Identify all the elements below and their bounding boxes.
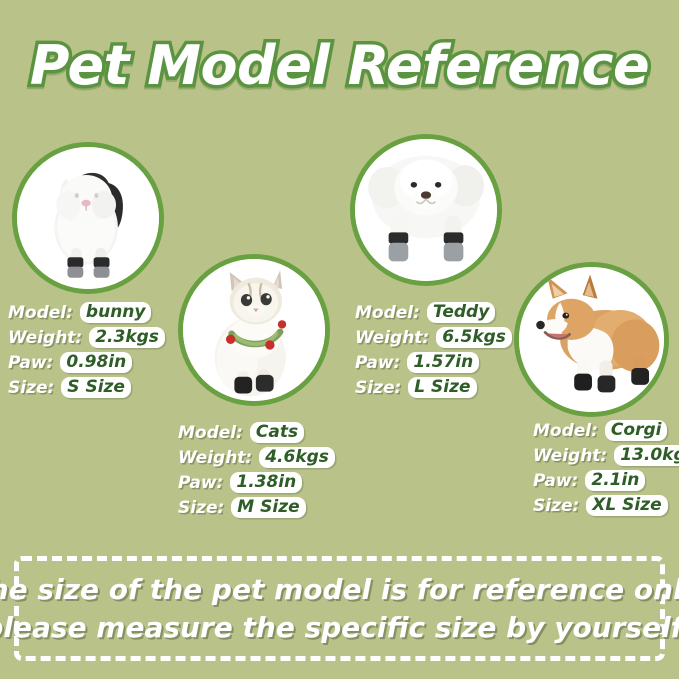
spec-value-weight: 4.6kgs [259, 447, 335, 468]
spec-label-model: Model: [8, 303, 73, 323]
spec-row: Model: bunny [8, 300, 165, 325]
page-title: Pet Model Reference [0, 34, 679, 97]
bootie [67, 257, 83, 278]
spec-row: Model: Corgi [533, 418, 679, 443]
spec-row: Size: M Size [178, 495, 335, 520]
corgi-photo [514, 262, 669, 417]
spec-label-model: Model: [178, 423, 243, 443]
spec-row: Paw: 1.57in [355, 350, 512, 375]
spec-value-size: XL Size [586, 495, 667, 516]
spec-label-size: Size: [178, 498, 224, 518]
spec-row: Paw: 0.98in [8, 350, 165, 375]
bootie [598, 376, 616, 393]
bootie [631, 368, 649, 385]
spec-row: Weight: 4.6kgs [178, 445, 335, 470]
bootie [256, 375, 274, 392]
spec-row: Size: L Size [355, 375, 512, 400]
spec-row: Weight: 13.0kgs [533, 443, 679, 468]
spec-label-size: Size: [355, 378, 401, 398]
spec-label-model: Model: [355, 303, 420, 323]
spec-row: Paw: 2.1in [533, 468, 679, 493]
spec-value-model: bunny [80, 302, 152, 323]
spec-block-bunny: Model: bunny Weight: 2.3kgs Paw: 0.98in … [8, 300, 165, 400]
spec-label-size: Size: [533, 496, 579, 516]
disclaimer-box: The size of the pet model is for referen… [14, 556, 665, 661]
spec-value-weight: 2.3kgs [89, 327, 165, 348]
spec-block-cats: Model: Cats Weight: 4.6kgs Paw: 1.38in S… [178, 420, 335, 520]
spec-label-weight: Weight: [178, 448, 252, 468]
spec-label-size: Size: [8, 378, 54, 398]
spec-value-size: M Size [231, 497, 305, 518]
spec-row: Size: XL Size [533, 493, 679, 518]
spec-label-weight: Weight: [8, 328, 82, 348]
spec-value-weight: 6.5kgs [436, 327, 512, 348]
spec-value-weight: 13.0kgs [614, 445, 679, 466]
spec-label-paw: Paw: [8, 353, 53, 373]
spec-value-paw: 2.1in [585, 470, 645, 491]
spec-row: Model: Cats [178, 420, 335, 445]
spec-label-paw: Paw: [178, 473, 223, 493]
spec-block-teddy: Model: Teddy Weight: 6.5kgs Paw: 1.57in … [355, 300, 512, 400]
infographic-page: Pet Model Reference Pet Model Reference [0, 0, 679, 679]
bootie [94, 257, 110, 278]
teddy-dog-photo [350, 134, 502, 286]
spec-value-paw: 1.57in [407, 352, 479, 373]
disclaimer-line-2: please measure the specific size by your… [0, 609, 679, 647]
spec-label-paw: Paw: [355, 353, 400, 373]
bootie [574, 374, 592, 391]
bootie [234, 377, 252, 394]
spec-value-paw: 0.98in [60, 352, 132, 373]
spec-row: Weight: 6.5kgs [355, 325, 512, 350]
spec-value-paw: 1.38in [230, 472, 302, 493]
spec-label-weight: Weight: [533, 446, 607, 466]
bootie [389, 232, 409, 261]
cat-photo [178, 254, 330, 406]
spec-value-size: S Size [61, 377, 131, 398]
spec-row: Size: S Size [8, 375, 165, 400]
bunny-photo [12, 142, 164, 294]
spec-value-model: Teddy [427, 302, 495, 323]
spec-row: Model: Teddy [355, 300, 512, 325]
spec-block-corgi: Model: Corgi Weight: 13.0kgs Paw: 2.1in … [533, 418, 679, 518]
disclaimer-line-1: The size of the pet model is for referen… [0, 571, 679, 609]
spec-value-size: L Size [408, 377, 476, 398]
spec-value-model: Cats [250, 422, 304, 443]
spec-label-paw: Paw: [533, 471, 578, 491]
spec-value-model: Corgi [605, 420, 668, 441]
spec-row: Weight: 2.3kgs [8, 325, 165, 350]
spec-label-model: Model: [533, 421, 598, 441]
spec-row: Paw: 1.38in [178, 470, 335, 495]
bootie [444, 232, 464, 261]
spec-label-weight: Weight: [355, 328, 429, 348]
